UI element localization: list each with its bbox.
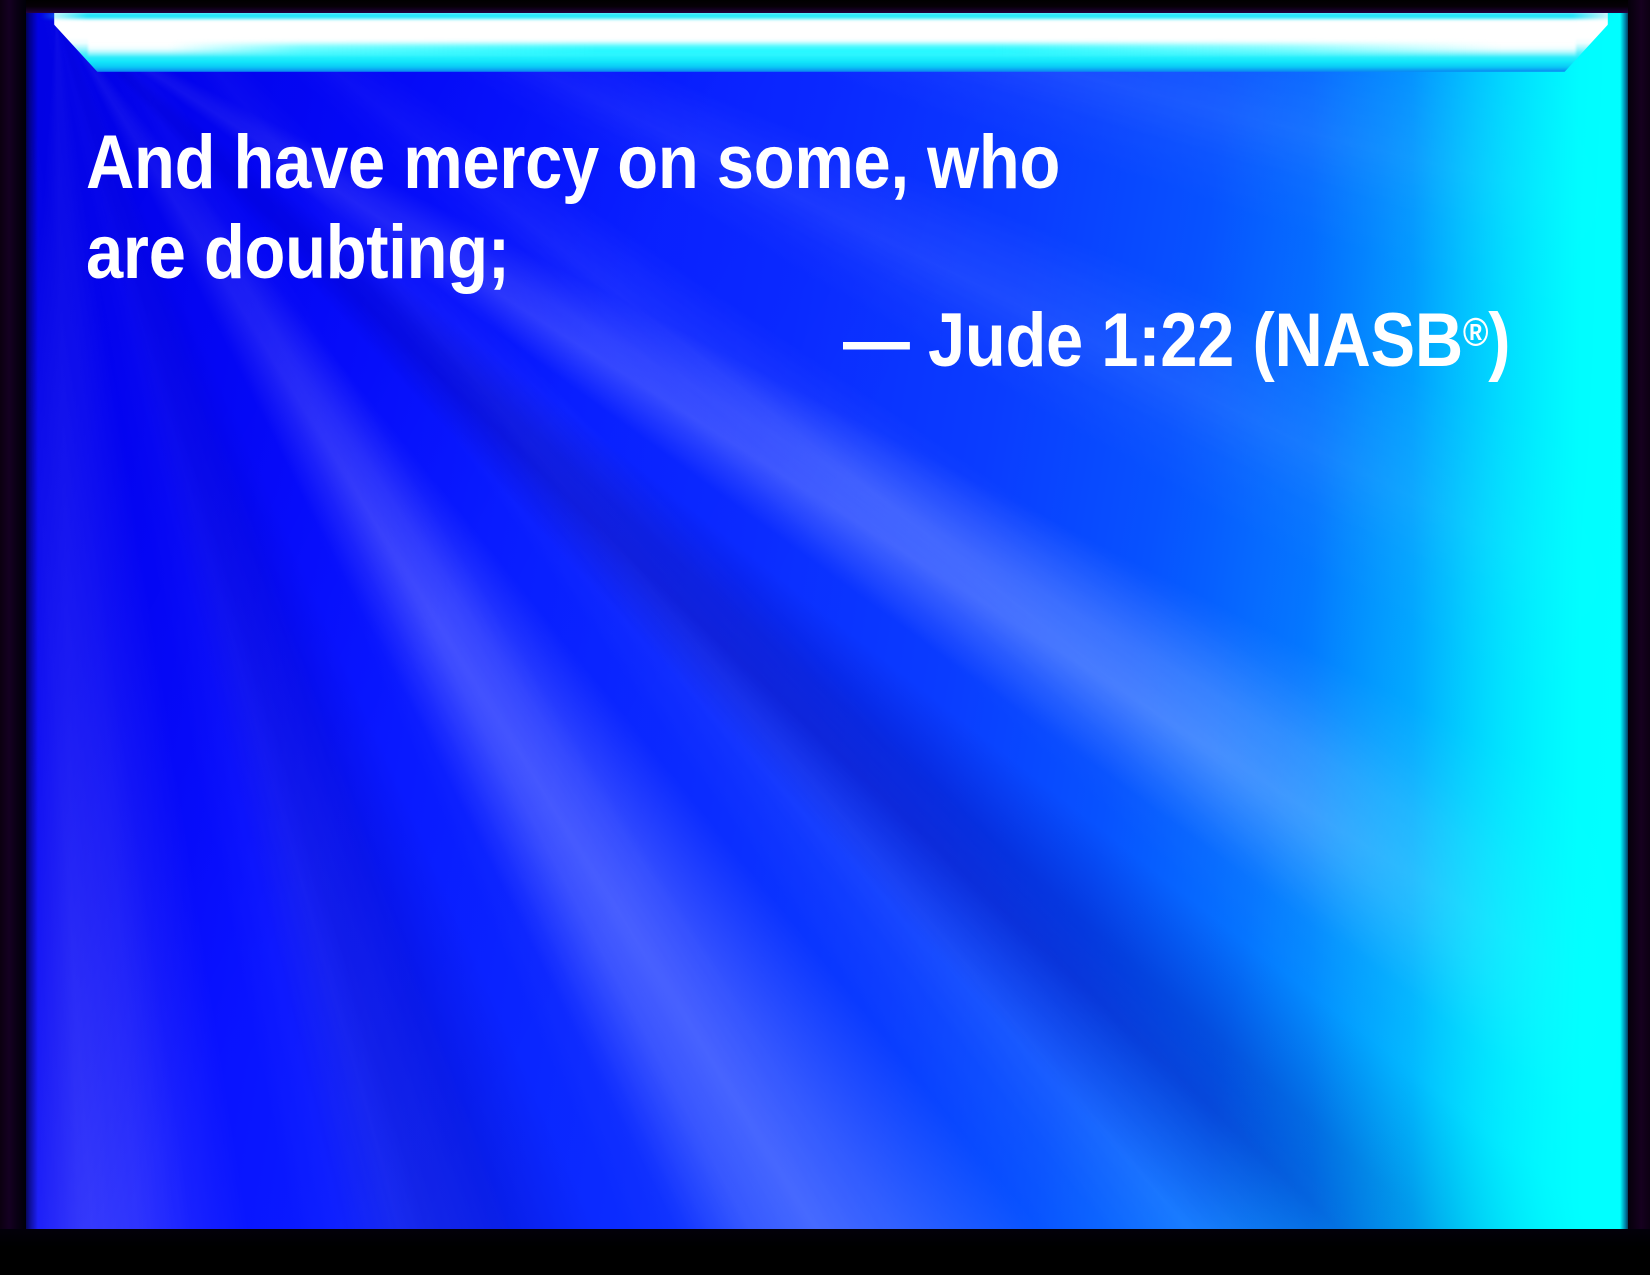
scripture-slide: And have mercy on some, who are doubting… [0,0,1650,1275]
background-artwork [24,12,1630,1230]
background-cyan-bloom [1212,12,1630,1230]
top-light-bar-rim [40,12,1620,19]
frame-edge-top [0,0,1650,13]
frame-edge-right [1628,0,1650,1275]
top-light-bar-cyan-streak [170,44,1500,57]
background-left-edge-shade [24,12,38,1230]
frame-edge-left [0,0,26,1275]
frame-edge-bottom [0,1229,1650,1275]
